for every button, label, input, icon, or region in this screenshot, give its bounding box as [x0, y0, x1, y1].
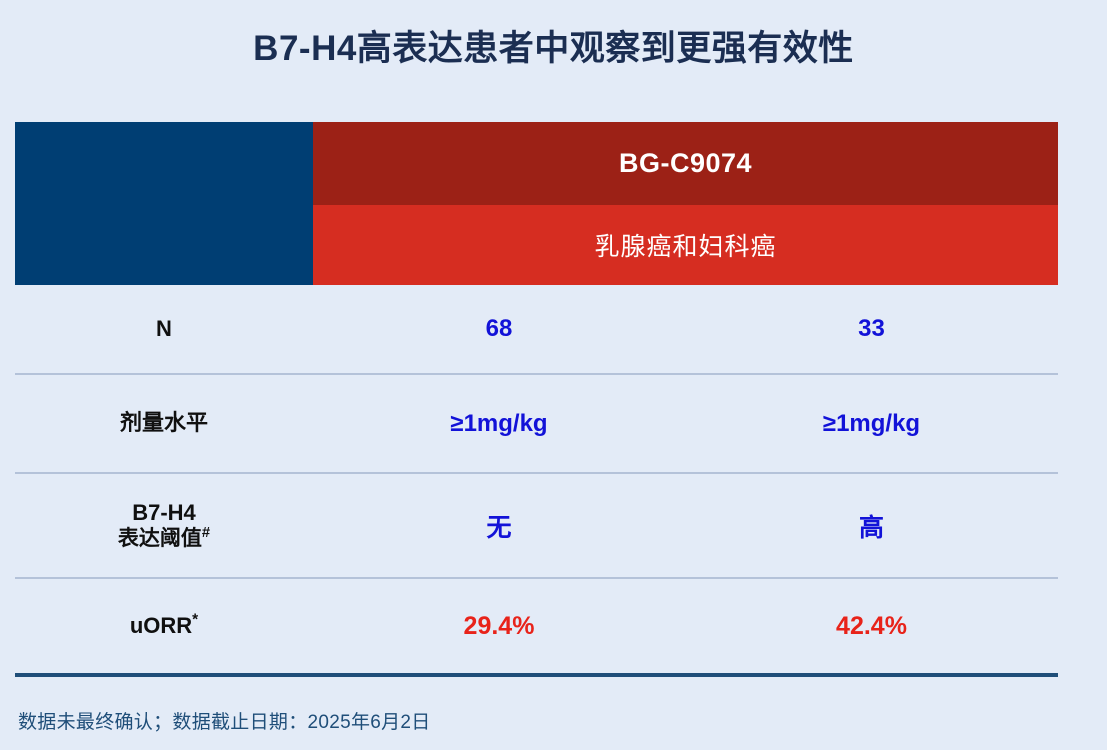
value-uorr-col2: 42.4%: [836, 612, 907, 641]
page-title: B7-H4高表达患者中观察到更强有效性: [0, 20, 1107, 71]
indication-label: 乳腺癌和妇科癌: [594, 227, 776, 263]
table-header-drug-band: BG-C9074: [313, 122, 1058, 205]
footnote-data-cutoff: 数据未最终确认；数据截止日期：2025年6月2日: [18, 707, 431, 734]
row-value-cell-col1: ≥1mg/kg: [313, 410, 685, 438]
value-threshold-col2: 高: [859, 508, 884, 544]
table-header-indication-band: 乳腺癌和妇科癌: [313, 205, 1058, 285]
row-label-dose-level: 剂量水平: [120, 410, 208, 437]
row-label-n: N: [156, 316, 172, 343]
row-label-cell: B7-H4 表达阈值#: [15, 499, 313, 553]
table-body: N 68 33 剂量水平 ≥1mg/kg ≥1mg/kg: [15, 285, 1058, 677]
slide-canvas: B7-H4高表达患者中观察到更强有效性 BG-C9074 乳腺癌和妇科癌 N: [0, 0, 1107, 750]
table-header-right-group: BG-C9074 乳腺癌和妇科癌: [313, 122, 1058, 285]
value-dose-col1: ≥1mg/kg: [450, 410, 547, 438]
row-value-cell-col2: ≥1mg/kg: [685, 410, 1058, 438]
row-label-b7h4: B7-H4: [132, 499, 196, 527]
row-label-cell: 剂量水平: [15, 410, 313, 437]
row-value-cell-col1: 无: [313, 508, 685, 544]
value-n-col2: 33: [858, 315, 885, 343]
row-label-cell: uORR*: [15, 613, 313, 640]
row-label-uorr: uORR*: [130, 613, 198, 640]
value-threshold-col1: 无: [486, 508, 511, 544]
value-dose-col2: ≥1mg/kg: [823, 410, 920, 438]
footnote-marker: #: [202, 525, 210, 541]
value-uorr-col1: 29.4%: [464, 612, 535, 641]
table-row: 剂量水平 ≥1mg/kg ≥1mg/kg: [15, 375, 1058, 474]
table-header-corner-cell: [15, 122, 313, 285]
row-value-cell-col2: 42.4%: [685, 612, 1058, 641]
row-label-expression-threshold: 表达阈值#: [118, 526, 210, 552]
row-value-cell-col2: 33: [685, 315, 1058, 343]
footnote-marker: *: [192, 611, 198, 628]
row-value-cell-col1: 68: [313, 315, 685, 343]
row-value-cell-col1: 29.4%: [313, 612, 685, 641]
row-label-cell: N: [15, 316, 313, 343]
table-header: BG-C9074 乳腺癌和妇科癌: [15, 122, 1058, 285]
row-value-cell-col2: 高: [685, 508, 1058, 544]
drug-name-label: BG-C9074: [619, 148, 752, 179]
table-row: N 68 33: [15, 285, 1058, 375]
table-row: uORR* 29.4% 42.4%: [15, 579, 1058, 677]
value-n-col1: 68: [486, 315, 513, 343]
table-row: B7-H4 表达阈值# 无 高: [15, 474, 1058, 579]
efficacy-comparison-table: BG-C9074 乳腺癌和妇科癌 N 68 33: [15, 122, 1058, 677]
